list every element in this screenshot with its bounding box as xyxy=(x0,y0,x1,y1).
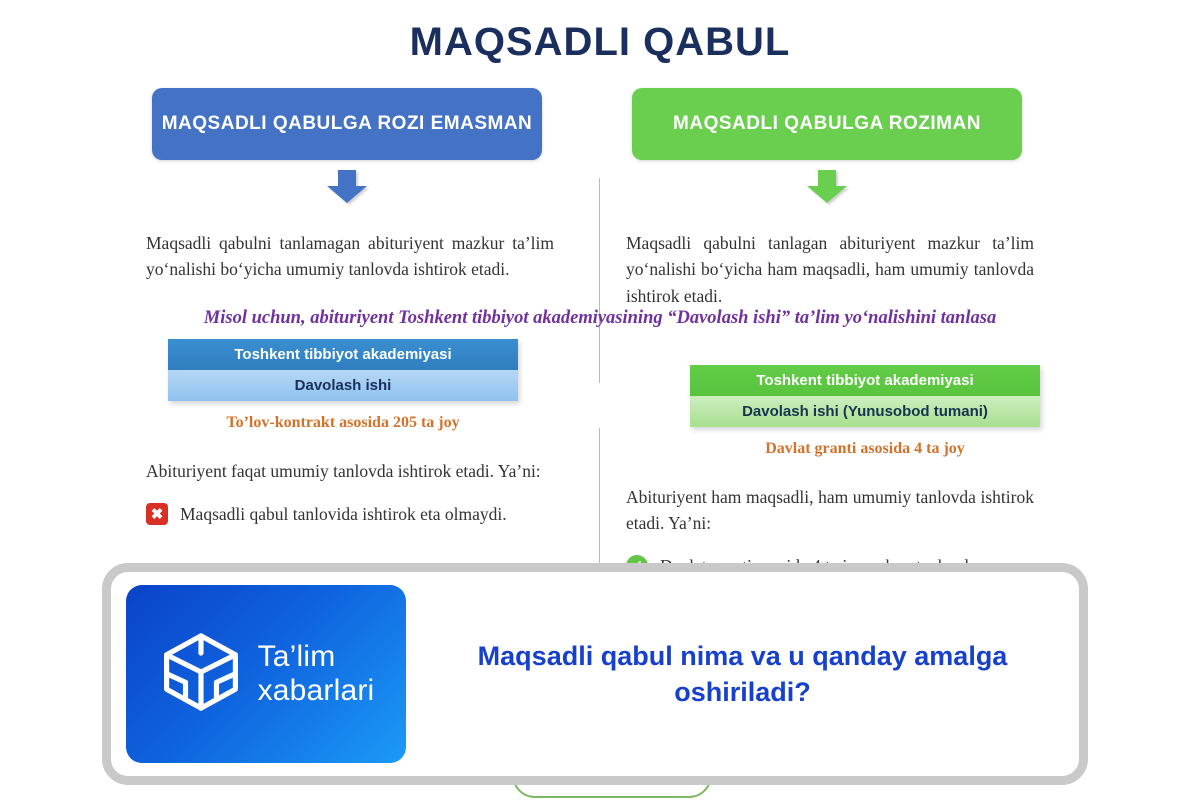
brand-tile[interactable]: Ta’lim xabarlari xyxy=(126,585,406,763)
right-arrow-wrap xyxy=(632,170,1022,206)
left-paragraph-top: Maqsadli qabulni tanlamagan abituriyent … xyxy=(146,230,554,283)
right-paragraph-top: Maqsadli qabulni tanlagan abituriyent ma… xyxy=(626,230,1034,309)
page-title: MAQSADLI QABUL xyxy=(0,20,1200,65)
overlay-headline: Maqsadli qabul nima va u qanday amalga o… xyxy=(406,638,1079,711)
right-table-row: Davolash ishi (Yunusobod tumani) xyxy=(690,396,1040,427)
right-mini-table: Toshkent tibbiyot akademiyasi Davolash i… xyxy=(690,365,1040,427)
cube-logo-icon xyxy=(158,629,244,720)
left-bullet-text: Maqsadli qabul tanlovida ishtirok eta ol… xyxy=(180,502,507,527)
example-note: Misol uchun, abituriyent Toshkent tibbiy… xyxy=(0,308,1200,329)
left-table-row: Davolash ishi xyxy=(168,370,518,401)
infographic-canvas: MAQSADLI QABUL MAQSADLI QABULGA ROZI EMA… xyxy=(0,0,1200,800)
left-paragraph-bottom: Abituriyent faqat umumiy tanlovda ishtir… xyxy=(146,458,554,484)
down-arrow-icon xyxy=(325,170,369,204)
left-header-box: MAQSADLI QABULGA ROZI EMASMAN xyxy=(152,88,542,160)
left-table-header: Toshkent tibbiyot akademiyasi xyxy=(168,339,518,370)
brand-name: Ta’lim xabarlari xyxy=(258,640,375,709)
right-table-caption: Davlat granti asosida 4 ta joy xyxy=(690,440,1040,458)
right-table-header: Toshkent tibbiyot akademiyasi xyxy=(690,365,1040,396)
left-mini-table: Toshkent tibbiyot akademiyasi Davolash i… xyxy=(168,339,518,401)
left-arrow-wrap xyxy=(152,170,542,206)
cross-icon: ✖ xyxy=(146,503,168,525)
right-header-box: MAQSADLI QABULGA ROZIMAN xyxy=(632,88,1022,160)
left-bullet-item: ✖ Maqsadli qabul tanlovida ishtirok eta … xyxy=(146,502,566,527)
left-table-caption: To’lov-kontrakt asosida 205 ta joy xyxy=(168,414,518,432)
down-arrow-icon xyxy=(805,170,849,204)
two-column-body: MAQSADLI QABULGA ROZI EMASMAN Maqsadli q… xyxy=(0,88,1200,588)
right-column: MAQSADLI QABULGA ROZIMAN Maqsadli qabuln… xyxy=(620,88,1080,580)
overlay-card: Ta’lim xabarlari Maqsadli qabul nima va … xyxy=(102,563,1088,785)
right-paragraph-bottom: Abituriyent ham maqsadli, ham umumiy tan… xyxy=(626,484,1034,537)
